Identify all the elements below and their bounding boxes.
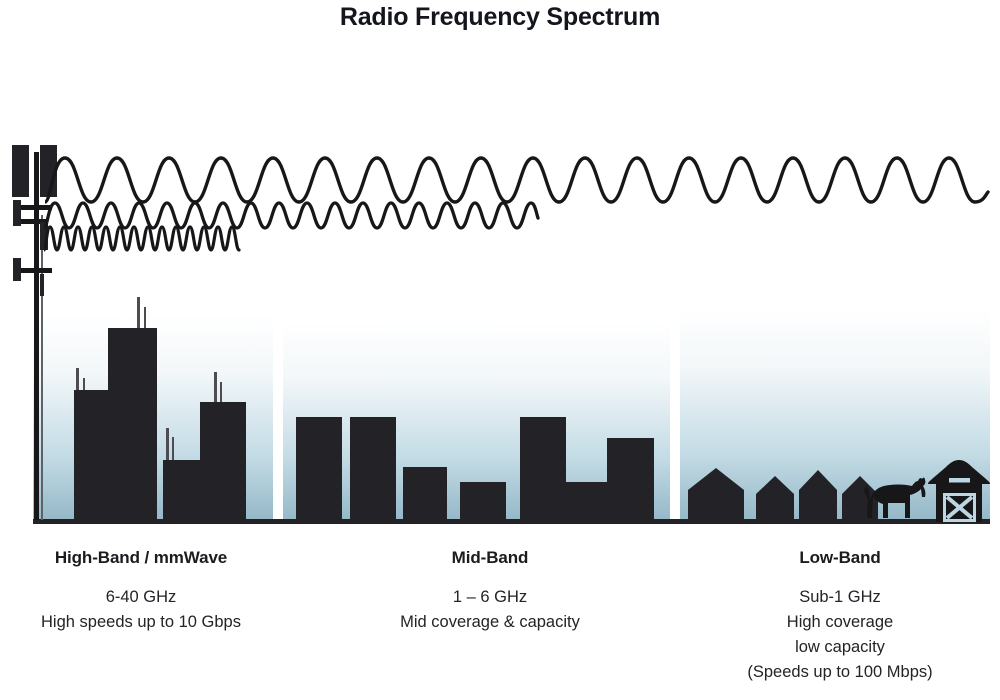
tower-mast-secondary (41, 215, 43, 520)
tower-mast-stub (40, 274, 44, 296)
farmhouse-2 (756, 476, 794, 522)
tower-antenna-panel-low (13, 258, 21, 281)
band-desc-low-1: low capacity (680, 635, 1000, 660)
barn-icon (928, 460, 990, 522)
band-frequency-mid: 1 – 6 GHz (330, 585, 650, 610)
midband-building-2 (350, 417, 396, 520)
midband-building-4 (460, 482, 506, 520)
midband-building-5 (520, 417, 566, 520)
tower-antenna-panel-mid (13, 200, 21, 226)
skyscraper-3 (163, 460, 205, 520)
band-desc-mid-0: Mid coverage & capacity (330, 610, 650, 635)
skyscraper-2 (108, 328, 157, 520)
band-frequency-low: Sub-1 GHz (680, 585, 1000, 610)
midband-building-3 (403, 467, 447, 520)
skyscraper-antenna-3a (166, 428, 169, 462)
band-desc-low-0: High coverage (680, 610, 1000, 635)
midband-building-6 (566, 482, 607, 520)
spectrum-diagram: High-Band / mmWave 6-40 GHz High speeds … (0, 0, 1000, 700)
band-frequency-high: 6-40 GHz (0, 585, 282, 610)
band-label-high: High-Band / mmWave 6-40 GHz High speeds … (0, 548, 282, 635)
skyscraper-antenna-3b (172, 437, 174, 462)
band-title-mid: Mid-Band (330, 548, 650, 568)
midband-building-7 (607, 438, 654, 520)
band-label-mid: Mid-Band 1 – 6 GHz Mid coverage & capaci… (330, 548, 650, 635)
band-desc-high-0: High speeds up to 10 Gbps (0, 610, 282, 635)
wave-short-wavelength (44, 222, 249, 256)
tower-antenna-panel-left (12, 145, 29, 197)
midband-building-1 (296, 417, 342, 520)
farmhouse-3 (799, 470, 837, 522)
band-title-high: High-Band / mmWave (0, 548, 282, 568)
cow-icon (862, 473, 930, 522)
band-desc-low-2: (Speeds up to 100 Mbps) (680, 660, 1000, 685)
skyscraper-4 (200, 402, 246, 520)
band-label-low: Low-Band Sub-1 GHz High coverage low cap… (680, 548, 1000, 685)
farmhouse-1 (688, 468, 744, 522)
band-title-low: Low-Band (680, 548, 1000, 568)
